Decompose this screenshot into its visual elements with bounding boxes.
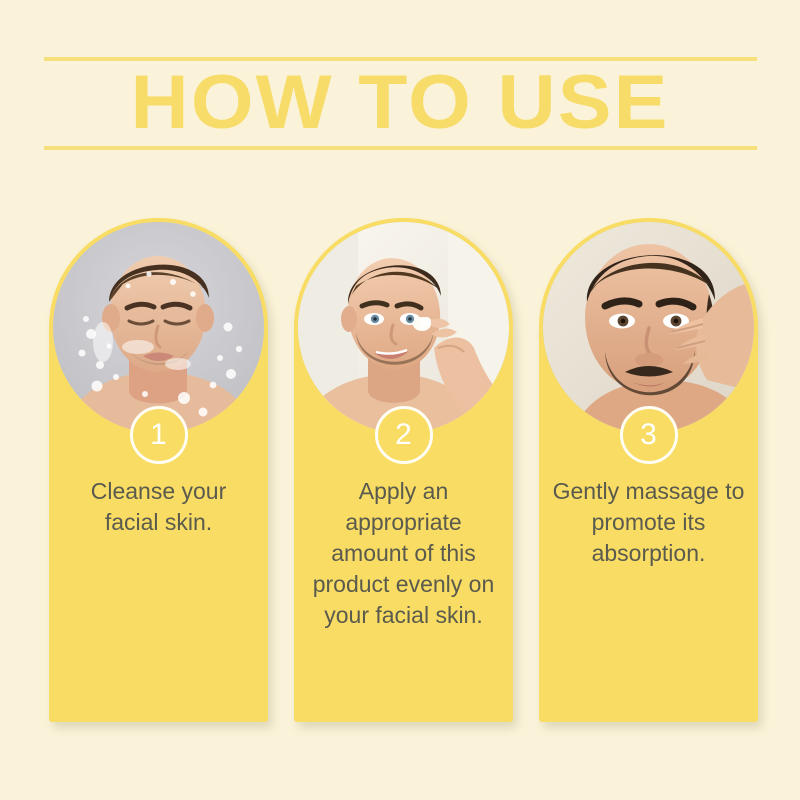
step-3-photo [543, 222, 754, 433]
steps-container: 1 Cleanse your facial skin. [0, 0, 800, 800]
step-1-photo [53, 222, 264, 433]
step-2-number-badge: 2 [375, 406, 433, 464]
step-card-3[interactable]: 3 Gently massage to promote its absorpti… [539, 218, 758, 722]
step-card-2[interactable]: 2 Apply an appropriate amount of this pr… [294, 218, 513, 722]
step-2-photo [298, 222, 509, 433]
step-2-caption: Apply an appropriate amount of this prod… [306, 476, 501, 631]
step-3-number-badge: 3 [620, 406, 678, 464]
step-card-1[interactable]: 1 Cleanse your facial skin. [49, 218, 268, 722]
step-1-number-badge: 1 [130, 406, 188, 464]
step-3-caption: Gently massage to promote its absorption… [551, 476, 746, 569]
step-1-caption: Cleanse your facial skin. [61, 476, 256, 538]
